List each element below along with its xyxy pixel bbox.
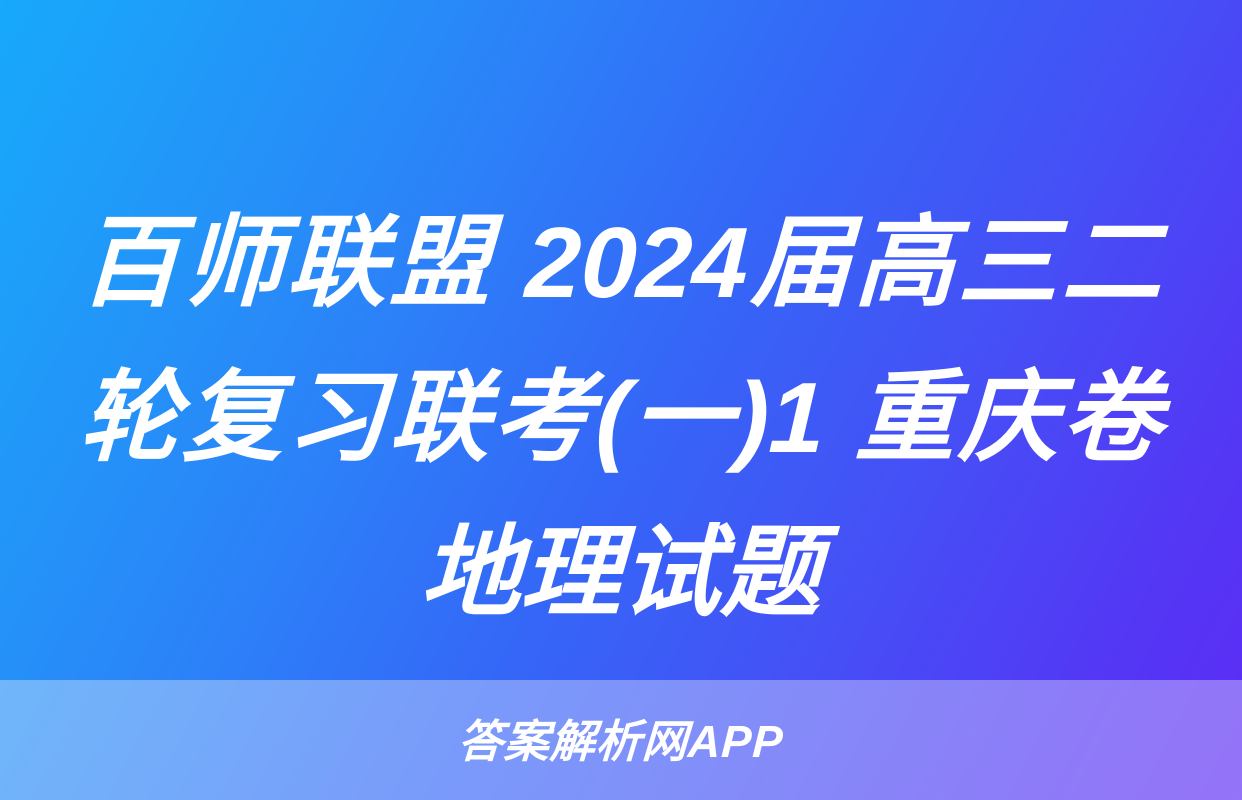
footer-watermark-band: 答案解析网APP (0, 680, 1242, 800)
title-line-3: 地理试题 (77, 496, 1164, 651)
page-title: 百师联盟 2024届高三二 轮复习联考(一)1 重庆卷 地理试题 (80, 186, 1162, 618)
title-line-2: 轮复习联考(一)1 重庆卷 (77, 341, 1164, 496)
watermark-text: 答案解析网APP (457, 719, 785, 764)
title-line-1: 百师联盟 2024届高三二 (77, 186, 1164, 341)
cover-page: 百师联盟 2024届高三二 轮复习联考(一)1 重庆卷 地理试题 答案解析网AP… (0, 0, 1242, 800)
